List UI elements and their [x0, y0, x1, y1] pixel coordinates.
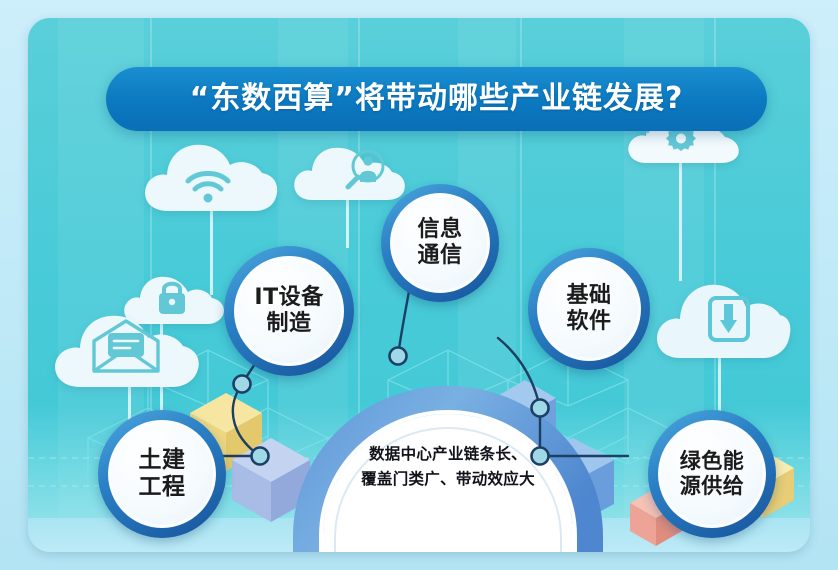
node-label-line-1: 基础 [566, 283, 611, 309]
node-civil-works[interactable]: 土建 工程 [98, 410, 226, 538]
center-caption-line-1: 数据中心产业链条长、 [316, 442, 580, 467]
node-label-line-2: 软件 [566, 309, 611, 335]
center-caption-line-2: 覆盖门类广、带动效应大 [316, 467, 580, 492]
node-label-line-1: 土建 [139, 447, 186, 474]
node-label-line-2: 源供给 [680, 474, 745, 499]
cloud-mail [50, 303, 202, 391]
cloud-download [652, 270, 792, 362]
node-inner: IT设备 制造 [237, 259, 341, 363]
node-basic-software[interactable]: 基础 软件 [528, 248, 650, 370]
node-label-line-2: 工程 [139, 474, 186, 501]
infographic-canvas: 数据中心产业链条长、 覆盖门类广、带动效应大 IT设备 制造 信息 通信 基础 [0, 0, 838, 570]
title-banner: “东数西算”将带动哪些产业链发展? [106, 67, 767, 131]
node-inner: 绿色能 源供给 [661, 423, 763, 525]
main-panel: 数据中心产业链条长、 覆盖门类广、带动效应大 IT设备 制造 信息 通信 基础 [28, 18, 810, 552]
node-label-line-1: 绿色能 [680, 449, 745, 474]
node-label-line-1: 信息 [417, 217, 462, 243]
node-green-energy[interactable]: 绿色能 源供给 [648, 410, 776, 538]
node-inner: 土建 工程 [111, 423, 213, 525]
node-label-line-2: 通信 [417, 243, 462, 269]
node-label-line-1: IT设备 [254, 285, 323, 311]
node-inner: 基础 软件 [540, 260, 638, 358]
node-label-line-2: 制造 [266, 311, 311, 337]
node-inner: 信息 通信 [393, 196, 487, 290]
page-title: “东数西算”将带动哪些产业链发展? [190, 84, 684, 114]
center-caption: 数据中心产业链条长、 覆盖门类广、带动效应大 [316, 442, 580, 492]
cloud-person-search [290, 138, 408, 204]
cloud-wifi [140, 133, 280, 215]
node-info-comm[interactable]: 信息 通信 [381, 184, 499, 302]
node-it-equipment[interactable]: IT设备 制造 [224, 246, 354, 376]
cloud-stem [679, 161, 682, 281]
